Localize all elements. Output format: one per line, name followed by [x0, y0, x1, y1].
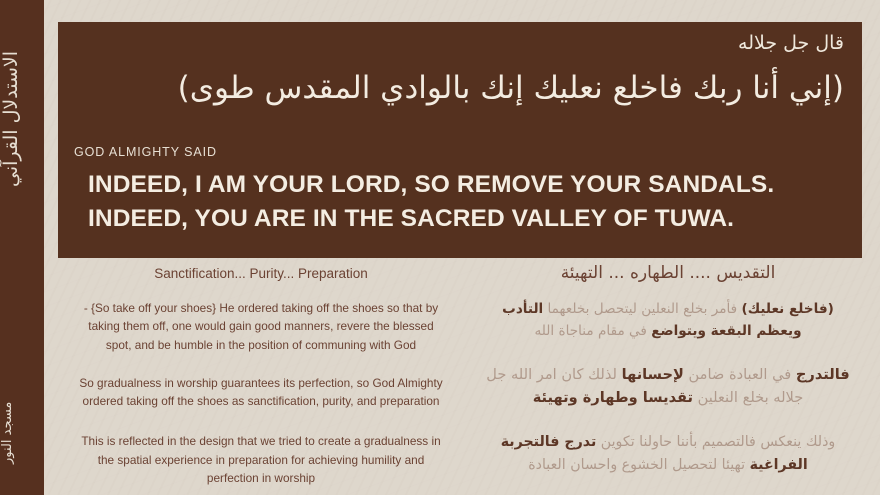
hero-translation-line-2: INDEED, YOU ARE IN THE SACRED VALLEY OF …: [88, 202, 774, 236]
hero-verse-arabic: (إني أنا ربك فاخلع نعليك إنك بالوادي الم…: [118, 68, 844, 110]
arabic-column-heading: التقديس .... الطهاره ... التهيئة: [464, 260, 872, 283]
arabic-text-run: فأمر بخلع النعلين ليتحصل بخلعهما: [543, 301, 741, 317]
hero-translation-english: INDEED, I AM YOUR LORD, SO REMOVE YOUR S…: [88, 168, 774, 236]
english-paragraph-1: - {So take off your shoes} He ordered ta…: [58, 299, 464, 354]
arabic-text-run: في العبادة ضامن: [684, 366, 796, 383]
hero-kicker-arabic: قال جل جلاله: [738, 32, 844, 54]
english-column-heading: Sanctification... Purity... Preparation: [58, 260, 464, 281]
arabic-column: التقديس .... الطهاره ... التهيئة (فاخلع …: [464, 260, 872, 492]
left-vertical-spine: الاستدلال القرآني مسجد النور: [0, 0, 44, 495]
hero-eyebrow-english: GOD ALMIGHTY SAID: [74, 145, 217, 159]
hero-quote-panel: قال جل جلاله (إني أنا ربك فاخلع نعليك إن…: [58, 22, 862, 258]
arabic-text-run: وذلك ينعكس فالتصميم بأننا حاولنا تكوين: [596, 434, 835, 450]
hero-translation-line-1: INDEED, I AM YOUR LORD, SO REMOVE YOUR S…: [88, 168, 774, 202]
spine-title-arabic: الاستدلال القرآني: [0, 14, 44, 224]
arabic-paragraph-1: (فاخلع نعليك) فأمر بخلع النعلين ليتحصل ب…: [464, 299, 872, 343]
arabic-emphasis-run: ويعظم البقعة ويتواضع: [651, 323, 801, 339]
english-paragraph-2: So gradualness in worship guarantees its…: [58, 374, 464, 411]
arabic-text-run: في مقام مناجاة الله: [534, 323, 651, 339]
arabic-emphasis-run: (فاخلع نعليك): [741, 301, 833, 317]
arabic-paragraph-2: فالتدرج في العبادة ضامن لإحسانها لذلك كا…: [464, 363, 872, 410]
body-columns: Sanctification... Purity... Preparation …: [58, 260, 872, 492]
slide-canvas: الاستدلال القرآني مسجد النور قال جل جلال…: [0, 0, 880, 495]
arabic-paragraph-3: وذلك ينعكس فالتصميم بأننا حاولنا تكوين ت…: [464, 431, 872, 476]
arabic-text-run: تهيئا لتحصيل الخشوع واحسان العبادة: [528, 457, 749, 473]
arabic-emphasis-run: التأدب: [502, 301, 543, 317]
spine-subtitle-arabic: مسجد النور: [0, 383, 44, 483]
arabic-emphasis-run: لإحسانها: [622, 366, 684, 383]
arabic-emphasis-run: فالتدرج: [796, 366, 850, 383]
arabic-emphasis-run: تقديسا وطهارة وتهيئة: [533, 389, 693, 406]
english-column: Sanctification... Purity... Preparation …: [58, 260, 464, 492]
english-paragraph-3: This is reflected in the design that we …: [58, 432, 464, 487]
